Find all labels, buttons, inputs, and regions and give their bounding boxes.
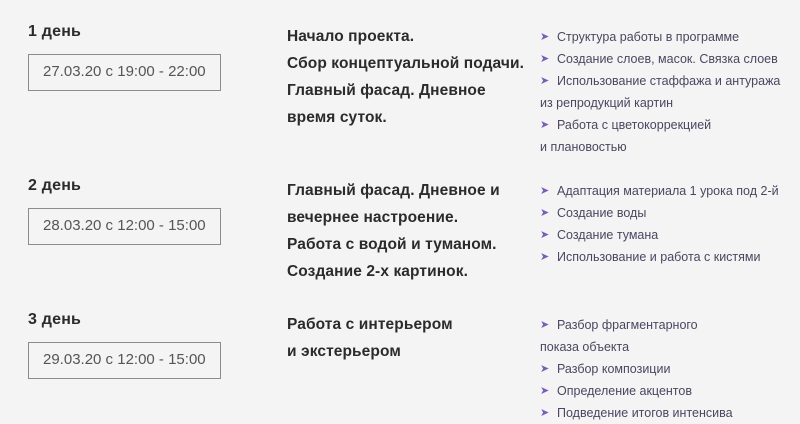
arrow-marker-icon: ➤ (540, 180, 553, 202)
arrow-marker-icon: ➤ (540, 48, 553, 70)
arrow-marker-icon: ➤ (540, 70, 553, 92)
list-item-label: Разбор фрагментарного (557, 314, 800, 336)
day-date-box: 27.03.20 с 19:00 - 22:00 (28, 54, 221, 91)
day-description-column: Главный фасад. Дневное и вечернее настро… (287, 176, 540, 285)
list-item: ➤ Определение акцентов (540, 380, 800, 402)
list-item-label: Структура работы в программе (557, 26, 800, 48)
list-item: ➤ Разбор фрагментарного (540, 314, 800, 336)
list-item: ➤ Работа с цветокоррекцией (540, 114, 800, 136)
list-item-label: Создание воды (557, 202, 800, 224)
arrow-marker-icon: ➤ (540, 114, 553, 136)
day-info-column: 2 день 28.03.20 с 12:00 - 15:00 (0, 176, 287, 245)
day-description-column: Начало проекта. Сбор концептуальной пода… (287, 22, 540, 131)
list-item-label: Создание слоев, масок. Связка слоев (557, 48, 800, 70)
day-info-column: 3 день 29.03.20 с 12:00 - 15:00 (0, 310, 287, 379)
day-row: 3 день 29.03.20 с 12:00 - 15:00 Работа с… (0, 310, 800, 424)
list-item-continuation: показа объекта (540, 336, 800, 358)
description-line: Начало проекта. (287, 23, 540, 50)
day-date-box: 28.03.20 с 12:00 - 15:00 (28, 208, 221, 245)
day-info-column: 1 день 27.03.20 с 19:00 - 22:00 (0, 22, 287, 91)
list-item: ➤ Использование и работа с кистями (540, 246, 800, 268)
day-row: 1 день 27.03.20 с 19:00 - 22:00 Начало п… (0, 22, 800, 158)
arrow-marker-icon: ➤ (540, 380, 553, 402)
course-schedule: 1 день 27.03.20 с 19:00 - 22:00 Начало п… (0, 0, 800, 421)
day-topics-column: ➤ Структура работы в программе ➤ Создани… (540, 22, 800, 158)
description-line: Главный фасад. Дневное и (287, 177, 540, 204)
day-title: 1 день (28, 22, 287, 42)
day-description-column: Работа с интерьером и экстерьером (287, 310, 540, 365)
arrow-marker-icon: ➤ (540, 246, 553, 268)
day-topics-column: ➤ Разбор фрагментарного показа объекта ➤… (540, 310, 800, 424)
description-line: Создание 2-х картинок. (287, 258, 540, 285)
day-topics-column: ➤ Адаптация материала 1 урока под 2-й ➤ … (540, 176, 800, 268)
list-item-label: Использование и работа с кистями (557, 246, 800, 268)
description-line: Работа с водой и туманом. (287, 231, 540, 258)
list-item-label: Адаптация материала 1 урока под 2-й (557, 180, 800, 202)
day-title: 3 день (28, 310, 287, 330)
list-item-label: Создание тумана (557, 224, 800, 246)
arrow-marker-icon: ➤ (540, 224, 553, 246)
description-line: и экстерьером (287, 338, 540, 365)
list-item-label: Работа с цветокоррекцией (557, 114, 800, 136)
description-line: Работа с интерьером (287, 311, 540, 338)
list-item: ➤ Использование стаффажа и антуража (540, 70, 800, 92)
arrow-marker-icon: ➤ (540, 26, 553, 48)
description-line: Сбор концептуальной подачи. (287, 50, 540, 77)
list-item-continuation: из репродукций картин (540, 92, 800, 114)
list-item: ➤ Создание слоев, масок. Связка слоев (540, 48, 800, 70)
arrow-marker-icon: ➤ (540, 314, 553, 336)
list-item: ➤ Создание воды (540, 202, 800, 224)
day-title: 2 день (28, 176, 287, 196)
list-item-label: Разбор композиции (557, 358, 800, 380)
arrow-marker-icon: ➤ (540, 202, 553, 224)
arrow-marker-icon: ➤ (540, 358, 553, 380)
day-date-box: 29.03.20 с 12:00 - 15:00 (28, 342, 221, 379)
list-item: ➤ Адаптация материала 1 урока под 2-й (540, 180, 800, 202)
description-line: время суток. (287, 104, 540, 131)
list-item: ➤ Структура работы в программе (540, 26, 800, 48)
description-line: Главный фасад. Дневное (287, 77, 540, 104)
list-item-label: Определение акцентов (557, 380, 800, 402)
description-line: вечернее настроение. (287, 204, 540, 231)
list-item: ➤ Создание тумана (540, 224, 800, 246)
list-item: ➤ Разбор композиции (540, 358, 800, 380)
day-row: 2 день 28.03.20 с 12:00 - 15:00 Главный … (0, 176, 800, 285)
list-item-continuation: и плановостью (540, 136, 800, 158)
list-item-label: Использование стаффажа и антуража (557, 70, 800, 92)
